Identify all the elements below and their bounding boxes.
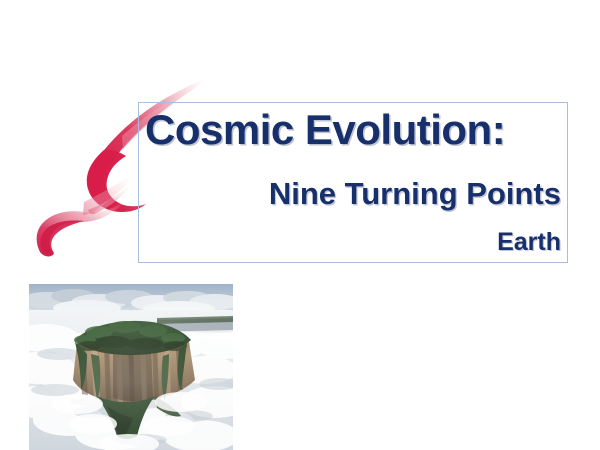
title-text-box-inner: Cosmic Evolution: Nine Turning Points Ea… xyxy=(139,103,567,262)
slide-topic-label: Earth xyxy=(139,230,563,255)
title-text-box[interactable]: Cosmic Evolution: Nine Turning Points Ea… xyxy=(138,102,568,263)
presentation-slide: Cosmic Evolution: Nine Turning Points Ea… xyxy=(0,0,600,450)
tepui-above-clouds-photo xyxy=(29,284,233,450)
slide-subtitle: Nine Turning Points xyxy=(139,178,563,209)
slide-title: Cosmic Evolution: xyxy=(145,109,505,151)
